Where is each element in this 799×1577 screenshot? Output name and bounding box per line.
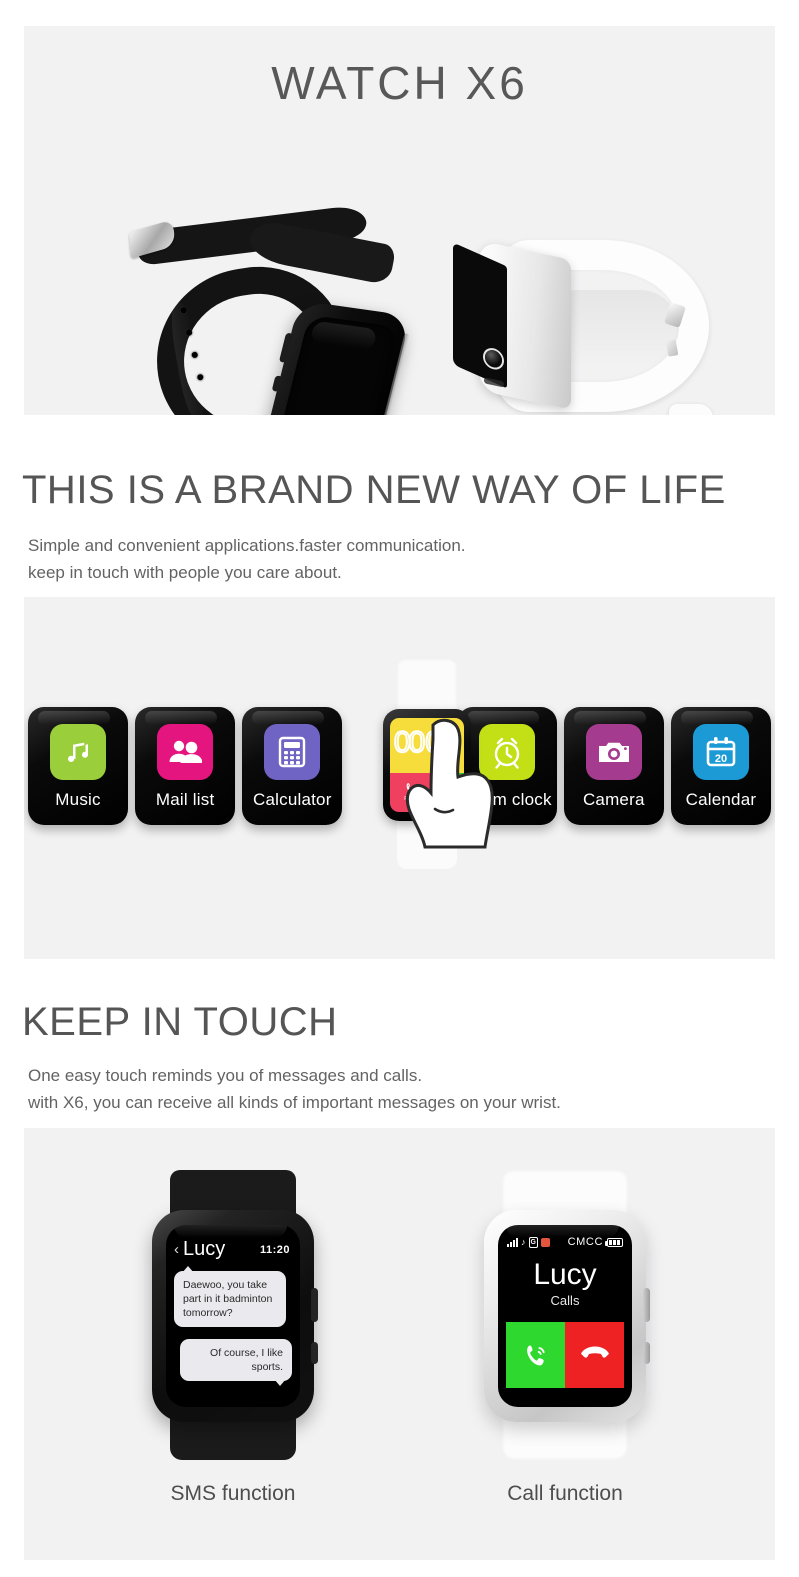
subtitle-line-2: with X6, you can receive all kinds of im… xyxy=(28,1089,561,1116)
signal-bars-icon xyxy=(507,1238,518,1247)
app-label-camera: Camera xyxy=(583,790,645,810)
accept-call-button[interactable] xyxy=(506,1322,565,1388)
call-caption: Call function xyxy=(507,1482,623,1506)
call-status-text: Calls xyxy=(498,1293,632,1308)
apps-showcase-panel: Music Mail list xyxy=(24,597,775,959)
watch-case: ‹ Lucy 11:20 Daewoo, you take part in it… xyxy=(152,1210,314,1422)
music-note-icon xyxy=(50,724,106,780)
decline-call-button[interactable] xyxy=(565,1322,624,1388)
sms-contact: ‹ Lucy xyxy=(174,1238,225,1261)
black-smartwatch-image xyxy=(129,210,429,415)
app-tile-mail-list[interactable]: Mail list xyxy=(135,707,235,825)
calendar-icon: 20 xyxy=(693,724,749,780)
app-label-calendar: Calendar xyxy=(686,790,757,810)
product-detail-page: WATCH X6 xyxy=(0,0,799,1577)
call-screen: ♪ G CMCC Lucy Calls xyxy=(498,1225,632,1407)
white-watch-call: ♪ G CMCC Lucy Calls xyxy=(460,1170,670,1460)
white-watch-case xyxy=(479,240,571,410)
pointing-finger-illustration xyxy=(403,717,495,867)
app-label-mail-list: Mail list xyxy=(156,790,214,810)
keep-in-touch-panel: ‹ Lucy 11:20 Daewoo, you take part in it… xyxy=(24,1128,775,1560)
app-tile-calendar[interactable]: 20 Calendar xyxy=(671,707,771,825)
watch-case: ♪ G CMCC Lucy Calls xyxy=(484,1210,646,1422)
status-left-icons: ♪ G xyxy=(507,1237,550,1248)
section-subtitle-touch: One easy touch reminds you of messages a… xyxy=(28,1062,561,1116)
battery-icon xyxy=(607,1238,623,1247)
sms-screen: ‹ Lucy 11:20 Daewoo, you take part in it… xyxy=(166,1225,300,1407)
sms-caption: SMS function xyxy=(171,1482,296,1506)
carrier-label: CMCC xyxy=(568,1236,603,1248)
white-strap-end xyxy=(669,404,713,415)
sms-demo-column: ‹ Lucy 11:20 Daewoo, you take part in it… xyxy=(68,1170,398,1506)
white-smartwatch-image xyxy=(479,232,729,415)
calculator-icon xyxy=(264,724,320,780)
call-action-buttons xyxy=(506,1322,624,1388)
alarm-icon xyxy=(541,1238,550,1247)
contacts-people-icon xyxy=(157,724,213,780)
subtitle-line-1: Simple and convenient applications.faste… xyxy=(28,532,466,559)
subtitle-line-2: keep in touch with people you care about… xyxy=(28,559,466,586)
phone-answer-icon xyxy=(523,1342,549,1368)
hero-product-stage xyxy=(24,110,775,400)
g-network-icon: G xyxy=(529,1237,538,1248)
app-tile-music[interactable]: Music xyxy=(28,707,128,825)
camera-icon xyxy=(586,724,642,780)
phone-hangup-icon xyxy=(580,1342,610,1368)
page-title: WATCH X6 xyxy=(24,56,775,110)
app-label-calculator: Calculator xyxy=(253,790,332,810)
app-tile-calculator[interactable]: Calculator xyxy=(242,707,342,825)
status-bar: ♪ G CMCC xyxy=(498,1225,632,1248)
call-demo-column: ♪ G CMCC Lucy Calls xyxy=(400,1170,730,1506)
section-heading-touch: KEEP IN TOUCH xyxy=(22,1000,337,1045)
sms-header: ‹ Lucy 11:20 xyxy=(166,1225,300,1261)
subtitle-line-1: One easy touch reminds you of messages a… xyxy=(28,1062,561,1089)
message-bubble-incoming: Daewoo, you take part in it badminton to… xyxy=(174,1271,286,1327)
center-watch-demo[interactable]: 00 00 2015/09/20 Phone xyxy=(379,659,475,869)
calendar-badge-number: 20 xyxy=(715,753,727,765)
message-bubble-outgoing: Of course, I like sports. xyxy=(180,1339,292,1381)
section-heading-life: THIS IS A BRAND NEW WAY OF LIFE xyxy=(22,468,726,513)
music-note-icon: ♪ xyxy=(521,1237,526,1247)
back-chevron-icon[interactable]: ‹ xyxy=(174,1241,179,1258)
watch-side-button-top[interactable] xyxy=(311,1288,318,1322)
black-watch-screen xyxy=(279,315,399,415)
caller-name: Lucy xyxy=(498,1258,632,1292)
sms-time: 11:20 xyxy=(260,1244,290,1256)
status-right-icons: CMCC xyxy=(568,1236,623,1248)
app-tile-camera[interactable]: Camera xyxy=(564,707,664,825)
watch-side-button-top[interactable] xyxy=(643,1288,650,1322)
app-label-music: Music xyxy=(55,790,100,810)
sms-contact-name: Lucy xyxy=(183,1238,225,1261)
section-subtitle-life: Simple and convenient applications.faste… xyxy=(28,532,466,586)
black-watch-sms: ‹ Lucy 11:20 Daewoo, you take part in it… xyxy=(128,1170,338,1460)
hero-panel: WATCH X6 xyxy=(24,26,775,415)
watch-side-button-bottom[interactable] xyxy=(311,1342,318,1364)
watch-side-button-bottom[interactable] xyxy=(643,1342,650,1364)
